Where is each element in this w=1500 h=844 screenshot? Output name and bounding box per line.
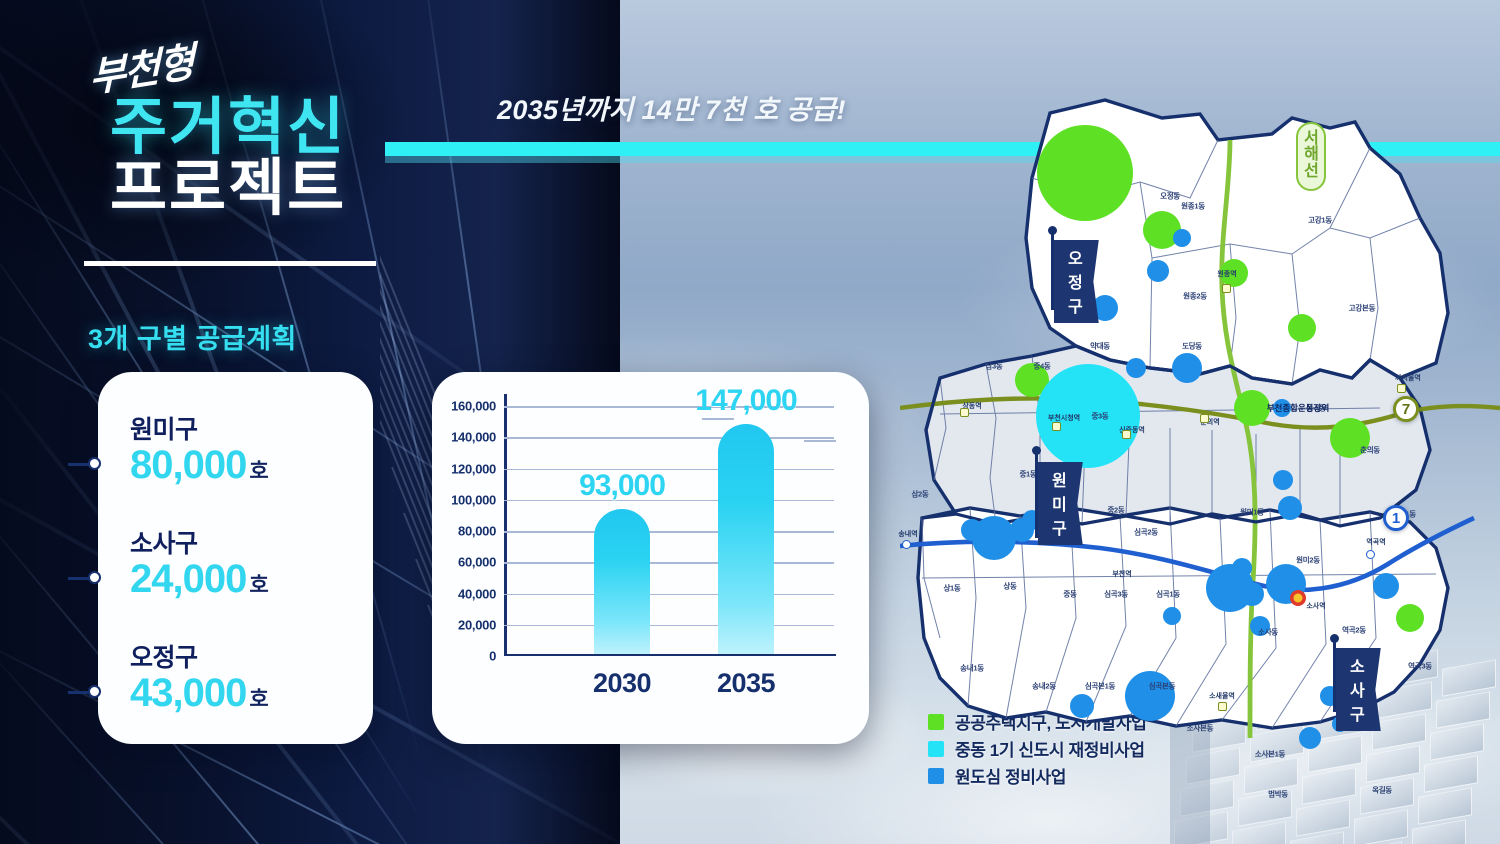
district-bullet-icon (88, 571, 101, 584)
bubble-green (1234, 390, 1270, 426)
y-axis-tick-label: 140,000 (451, 430, 496, 445)
bubble-blue (1147, 260, 1169, 282)
bar (594, 509, 650, 654)
district-value-unit: 호 (249, 460, 268, 483)
district-name: 소사구 (130, 516, 373, 560)
neighborhood-label: 삼3동 (985, 361, 1002, 372)
bubble-blue (1273, 470, 1293, 490)
neighborhood-label: 도당동 (1182, 341, 1202, 352)
rail-badge-seohaeseon: 서해선 (1296, 122, 1326, 191)
neighborhood-label: 원미1동 (1240, 507, 1264, 518)
bucheon-map: 오정동신흥동원종1동원종2동고강1동고강본동성곡동도당동약대동삼3동삼2동중4동… (900, 78, 1500, 778)
district-value-unit: 호 (249, 574, 268, 597)
label-leader-line (804, 440, 836, 442)
y-axis-tick-label: 160,000 (451, 399, 496, 414)
sosa-station-marker (1290, 590, 1306, 606)
station-label: 송내역 (898, 529, 917, 539)
gridline (504, 594, 834, 596)
neighborhood-label: 상1동 (943, 583, 960, 594)
gridline (504, 531, 834, 533)
neighborhood-label: 심곡2동 (1134, 527, 1158, 538)
neighborhood-label: 삼2동 (911, 489, 928, 500)
station-label: 까치울역 (1395, 373, 1421, 383)
district-value-unit: 호 (249, 688, 268, 711)
neighborhood-label: 심곡본동 (1149, 681, 1175, 692)
title-underline (84, 261, 376, 266)
rail-badge-line-1-label: 1 (1392, 510, 1400, 527)
district-value-number: 80,000 (130, 443, 246, 487)
station-marker-icon (1366, 550, 1375, 559)
district-value: 80,000호 (130, 444, 373, 486)
neighborhood-label: 역곡2동 (1342, 625, 1366, 636)
district-list: 원미구80,000호소사구24,000호오정구43,000호 (98, 402, 373, 744)
bubble-blue (1126, 358, 1146, 378)
bubble-blue (1232, 558, 1252, 578)
district-name: 오정구 (130, 630, 373, 674)
neighborhood-label: 원미2동 (1296, 555, 1320, 566)
district-row: 원미구80,000호 (98, 402, 373, 516)
station-marker-icon (902, 540, 911, 549)
bubble-blue (1125, 671, 1175, 721)
supply-chart-card: 160,000140,000120,000100,00080,00060,000… (432, 372, 869, 744)
flag-label-ojeong: 오정구 (1054, 240, 1099, 323)
rail-badge-line-1: 1 (1383, 505, 1409, 531)
bubble-blue (1278, 496, 1302, 520)
title-line-2: 프로젝트 (110, 158, 484, 220)
neighborhood-label: 중1동 (1019, 469, 1036, 480)
rail-badge-line-7-label: 7 (1402, 401, 1410, 418)
flag-pole-icon (1035, 450, 1038, 538)
infographic-canvas: 부천형 주거혁신 프로젝트 2035년까지 14만 7천 호 공급! 3개 구별… (0, 0, 1500, 844)
station-marker-icon (1218, 702, 1227, 711)
station-label: 부천종합운동장역 (1267, 402, 1330, 414)
station-marker-icon (1397, 384, 1406, 393)
rail-badge-seohaeseon-label: 서해선 (1304, 130, 1318, 180)
station-marker-icon (1122, 430, 1131, 439)
neighborhood-label: 중2동 (1107, 505, 1124, 516)
station-label: 원종역 (1217, 269, 1236, 279)
title-line-1: 주거혁신 (110, 98, 484, 158)
gridline (504, 562, 834, 564)
y-axis-tick-label: 20,000 (458, 617, 496, 632)
rail-badge-line-7: 7 (1393, 396, 1419, 422)
neighborhood-label: 원종1동 (1181, 201, 1205, 212)
neighborhood-label: 중4동 (1033, 361, 1050, 372)
bar-value-label: 147,000 (695, 384, 796, 418)
map-svg (900, 78, 1500, 778)
district-row: 오정구43,000호 (98, 630, 373, 744)
bubble-blue (1373, 573, 1399, 599)
x-axis-category-label: 2030 (593, 668, 651, 699)
district-value-number: 43,000 (130, 671, 246, 715)
neighborhood-label: 오정동 (1160, 191, 1180, 202)
section-heading: 3개 구별 공급계획 (88, 317, 297, 356)
bubble-blue (1173, 229, 1191, 247)
station-label: 소새울역 (1209, 691, 1235, 701)
flag-pole-icon (1333, 638, 1336, 712)
bubble-blue (1299, 727, 1321, 749)
neighborhood-label: 춘의동 (1360, 445, 1380, 456)
gridline (504, 625, 834, 627)
neighborhood-label: 심곡1동 (1156, 589, 1180, 600)
neighborhood-label: 송내1동 (960, 663, 984, 674)
neighborhood-label: 역곡3동 (1408, 661, 1432, 672)
bar (718, 424, 774, 654)
y-axis-tick-label: 60,000 (458, 555, 496, 570)
neighborhood-label: 원종2동 (1183, 291, 1207, 302)
neighborhood-label: 심곡3동 (1104, 589, 1128, 600)
neighborhood-label: 소사본1동 (1255, 749, 1285, 760)
x-axis-category-label: 2035 (717, 668, 775, 699)
x-axis (504, 654, 836, 657)
bar-chart-plot-area: 160,000140,000120,000100,00080,00060,000… (504, 406, 834, 656)
y-axis-tick-label: 0 (489, 649, 496, 664)
bar-value-label: 93,000 (579, 469, 665, 503)
y-axis (504, 394, 507, 656)
gridline (504, 500, 834, 502)
bubble-blue (1070, 694, 1094, 718)
bubble-blue (1240, 582, 1264, 606)
bubble-blue (1163, 607, 1181, 625)
neighborhood-label: 중3동 (1091, 411, 1108, 422)
district-name: 원미구 (130, 402, 373, 446)
neighborhood-label: 고강본동 (1349, 303, 1375, 314)
neighborhood-label: 중동 (1063, 589, 1076, 600)
station-marker-icon (960, 408, 969, 417)
neighborhood-label: 고강1동 (1308, 215, 1332, 226)
neighborhood-label: 소사본동 (1187, 723, 1213, 734)
district-supply-card: 원미구80,000호소사구24,000호오정구43,000호 (98, 372, 373, 744)
district-row: 소사구24,000호 (98, 516, 373, 630)
station-marker-icon (1052, 422, 1061, 431)
bubble-green (1396, 604, 1424, 632)
gridline (504, 437, 834, 439)
station-marker-icon (1222, 284, 1231, 293)
y-axis-tick-label: 120,000 (451, 461, 496, 476)
bubble-blue (961, 519, 983, 541)
station-label: 부천역 (1112, 569, 1131, 579)
y-axis-tick-label: 100,000 (451, 492, 496, 507)
label-leader-line (702, 418, 734, 420)
neighborhood-label: 옥길동 (1372, 785, 1392, 796)
map-district-shapes (918, 100, 1448, 728)
district-value: 24,000호 (130, 558, 373, 600)
bubble-green (1037, 125, 1133, 221)
station-label: 역곡역 (1366, 537, 1385, 547)
neighborhood-label: 상동 (1003, 581, 1016, 592)
bubble-green (1288, 314, 1316, 342)
district-value: 43,000호 (130, 672, 373, 714)
district-bullet-icon (88, 685, 101, 698)
district-value-number: 24,000 (130, 557, 246, 601)
flag-label-wonmi: 원미구 (1038, 462, 1083, 545)
flag-pole-icon (1051, 230, 1054, 310)
district-bullet-icon (88, 457, 101, 470)
neighborhood-label: 약대동 (1090, 341, 1110, 352)
bubble-blue (1172, 353, 1202, 383)
station-label: 소사역 (1306, 601, 1325, 611)
title-block: 부천형 주거혁신 프로젝트 (84, 46, 484, 220)
gridline (504, 469, 834, 471)
flag-label-sosa: 소사구 (1336, 648, 1381, 731)
y-axis-tick-label: 80,000 (458, 524, 496, 539)
neighborhood-label: 송내2동 (1032, 681, 1056, 692)
y-axis-tick-label: 40,000 (458, 586, 496, 601)
neighborhood-label: 심곡본1동 (1085, 681, 1115, 692)
subtitle: 2035년까지 14만 7천 호 공급! (497, 88, 846, 127)
neighborhood-label: 범박동 (1268, 789, 1288, 800)
station-marker-icon (1200, 414, 1209, 423)
neighborhood-label: 소사동 (1258, 627, 1278, 638)
